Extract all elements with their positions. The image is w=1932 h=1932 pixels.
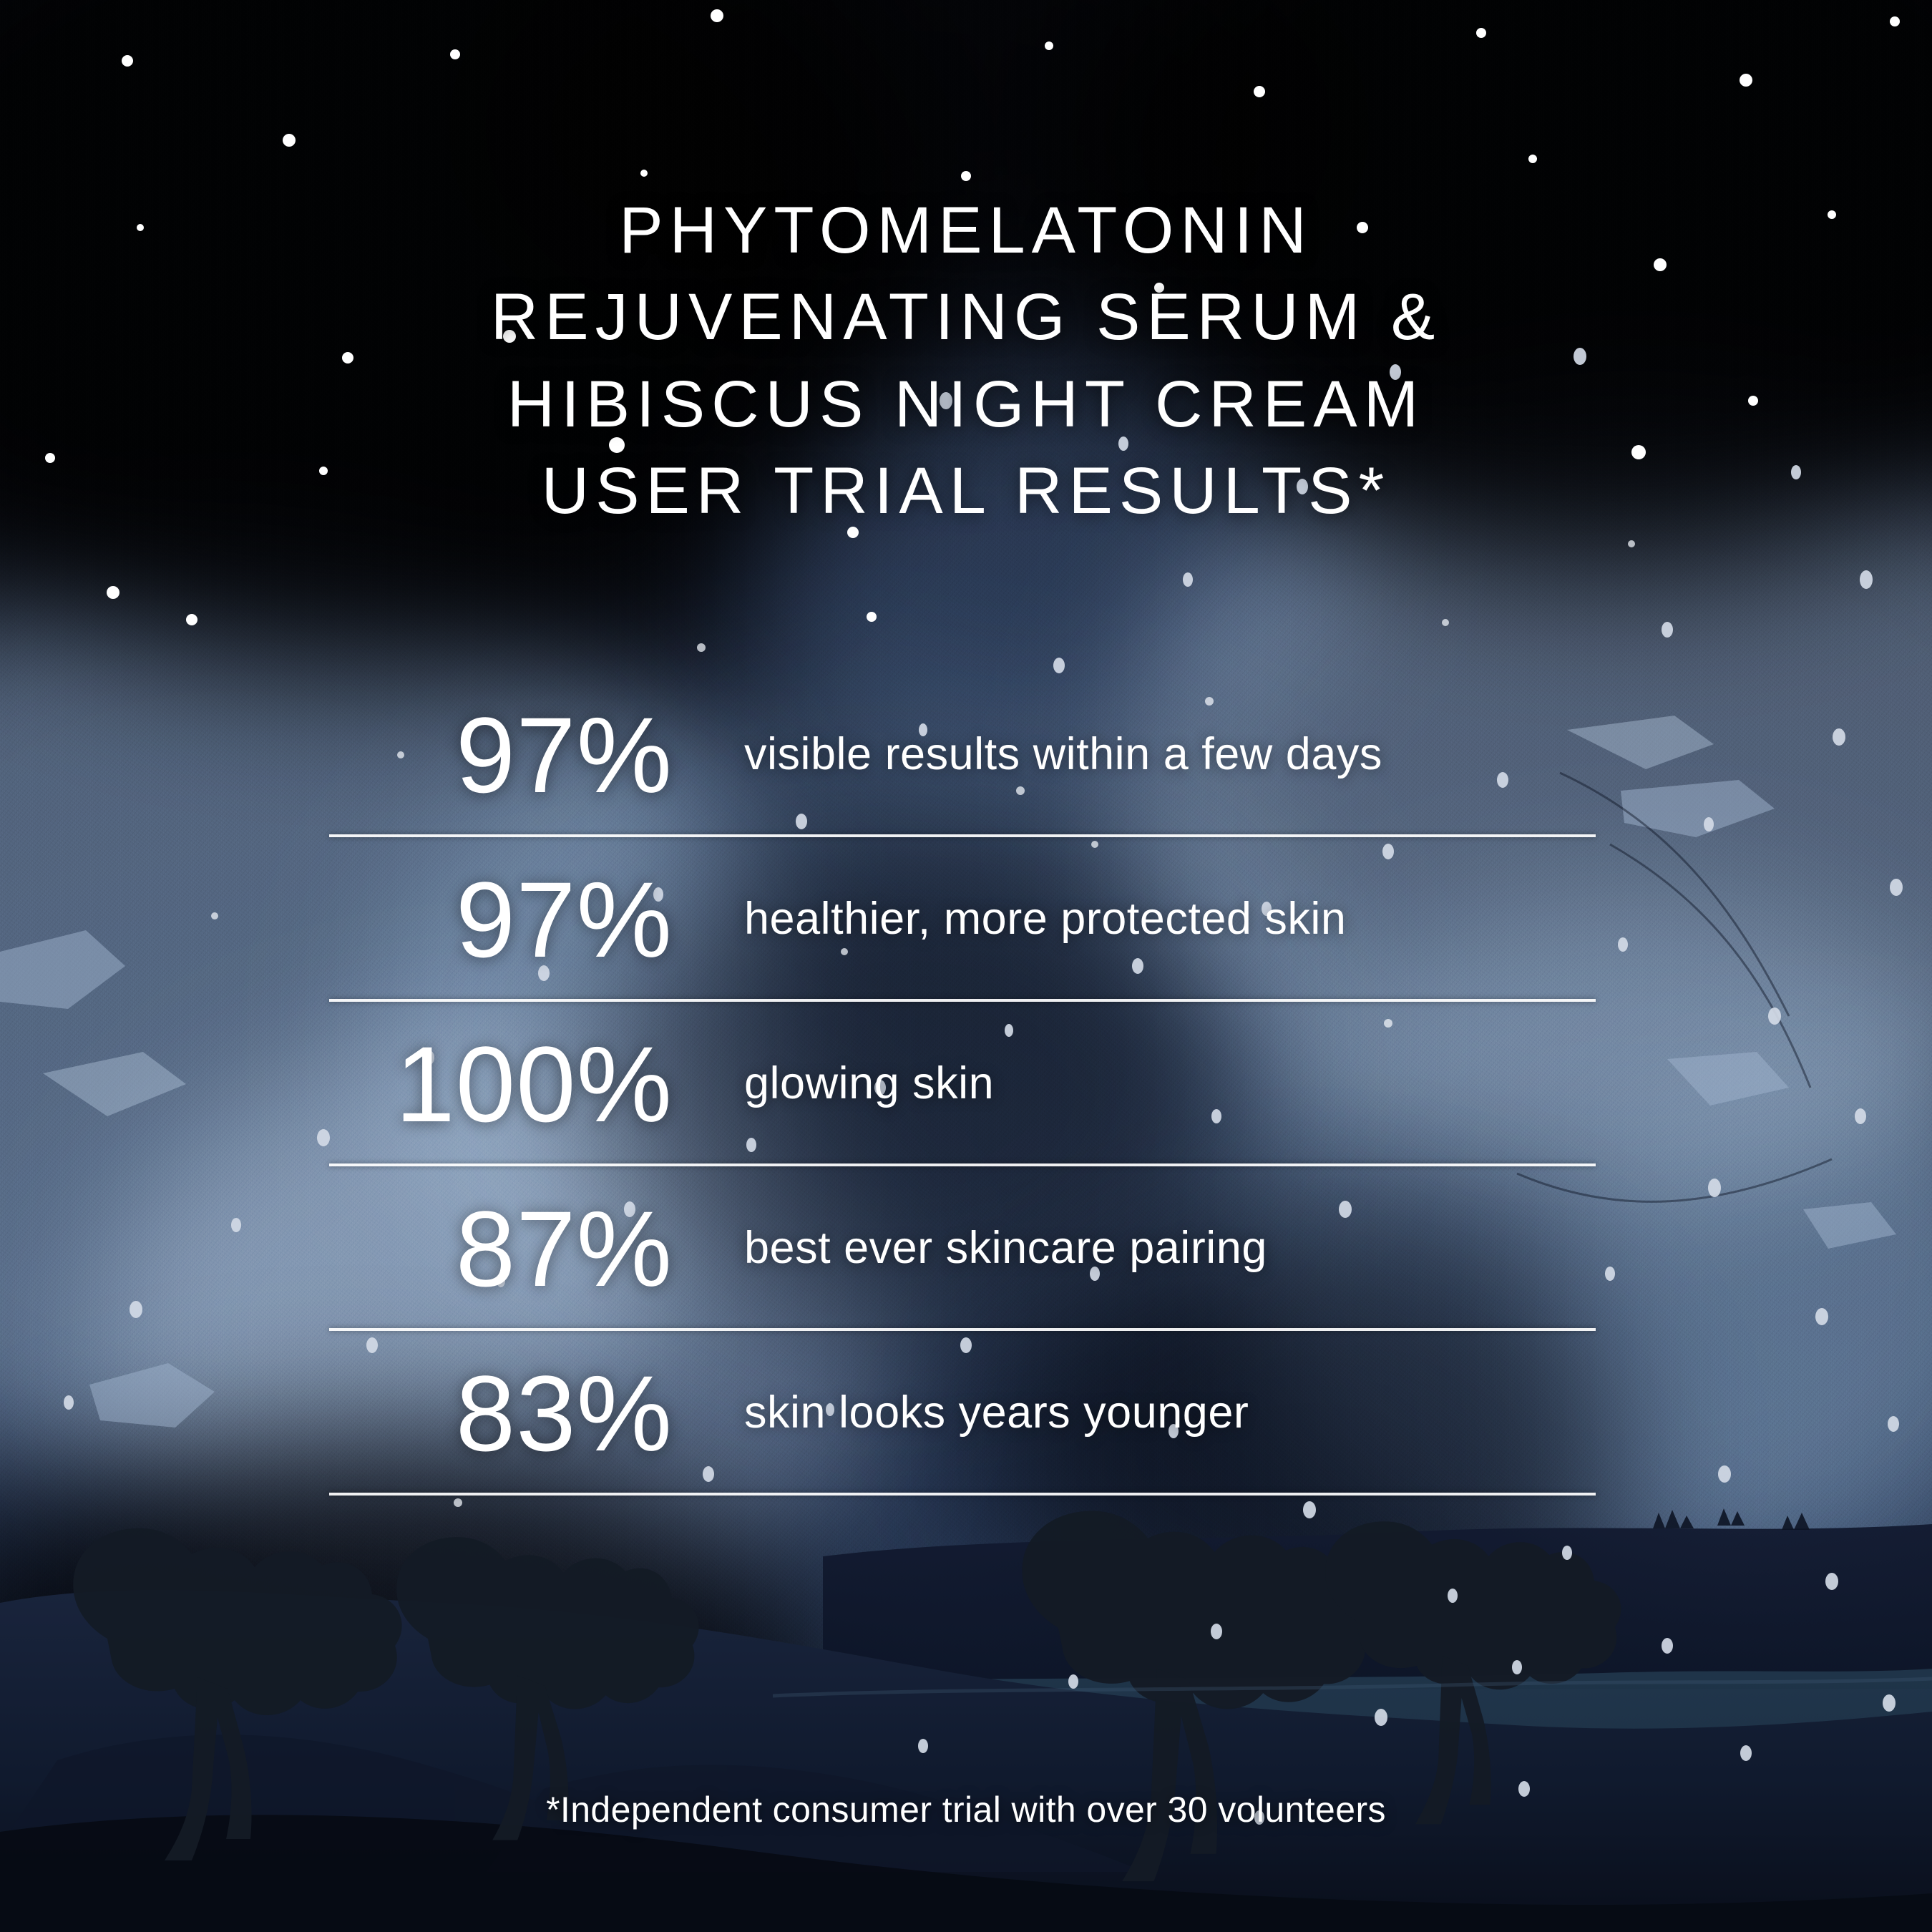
stat-percent: 87% (329, 1195, 673, 1302)
stat-row: 83% skin looks years younger (329, 1331, 1596, 1496)
title-line-1: PHYTOMELATONIN (0, 187, 1932, 274)
title-line-2: REJUVENATING SERUM & (0, 274, 1932, 361)
trial-results-list: 97% visible results within a few days 97… (329, 673, 1596, 1496)
row-divider (329, 1493, 1596, 1496)
stat-percent: 100% (329, 1030, 673, 1138)
title-line-4: USER TRIAL RESULTS* (0, 448, 1932, 535)
page-title: PHYTOMELATONIN REJUVENATING SERUM & HIBI… (0, 187, 1932, 535)
stat-row: 97% visible results within a few days (329, 673, 1596, 837)
stat-percent: 97% (329, 866, 673, 973)
stat-label: visible results within a few days (673, 730, 1596, 779)
stat-row: 100% glowing skin (329, 1002, 1596, 1166)
footnote: *Independent consumer trial with over 30… (0, 1789, 1932, 1830)
stat-label: best ever skincare pairing (673, 1224, 1596, 1273)
title-line-3: HIBISCUS NIGHT CREAM (0, 361, 1932, 448)
stat-row: 97% healthier, more protected skin (329, 837, 1596, 1002)
stat-label: glowing skin (673, 1059, 1596, 1108)
stat-percent: 97% (329, 701, 673, 809)
stat-label: healthier, more protected skin (673, 894, 1596, 944)
stat-row: 87% best ever skincare pairing (329, 1166, 1596, 1331)
poster-canvas: PHYTOMELATONIN REJUVENATING SERUM & HIBI… (0, 0, 1932, 1932)
stat-label: skin looks years younger (673, 1388, 1596, 1438)
stat-percent: 83% (329, 1360, 673, 1467)
